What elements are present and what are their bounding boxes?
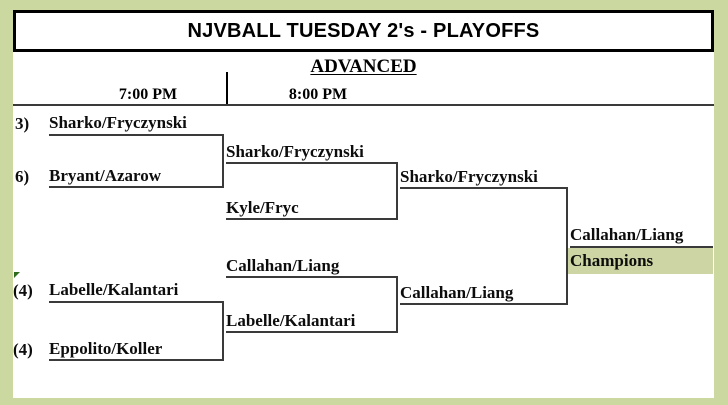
rule-r1-2 [49, 186, 224, 188]
seed-r1-2: 6) [15, 167, 29, 187]
rule-r1-1 [49, 134, 224, 136]
team-r1-4: Eppolito/Koller [49, 340, 162, 358]
champions-label: Champions [570, 251, 653, 271]
time-column-divider [226, 72, 228, 105]
time-column-7pm: 7:00 PM [73, 86, 223, 104]
team-r1-1: Sharko/Fryczynski [49, 114, 187, 132]
rule-r1-3 [49, 301, 224, 303]
rule-r2-1 [226, 162, 398, 164]
team-r2-4: Labelle/Kalantari [226, 312, 355, 330]
division-label: ADVANCED [310, 56, 416, 77]
connector-r3 [566, 187, 568, 305]
connector-r2-a [396, 162, 398, 220]
header-rule [13, 104, 714, 106]
team-r2-3: Callahan/Liang [226, 257, 339, 275]
team-r1-2: Bryant/Azarow [49, 167, 161, 185]
rule-r3-2 [400, 303, 568, 305]
rule-r2-3 [226, 276, 398, 278]
connector-r1-a [222, 134, 224, 188]
team-final-winner: Callahan/Liang [570, 226, 683, 244]
team-r2-1: Sharko/Fryczynski [226, 143, 364, 161]
time-column-8pm: 8:00 PM [243, 86, 393, 104]
bracket-sheet: NJVBALL TUESDAY 2's - PLAYOFFS ADVANCED … [13, 10, 714, 398]
connector-r2-b [396, 276, 398, 333]
team-r3-2: Callahan/Liang [400, 284, 513, 302]
rule-r3-1 [400, 187, 568, 189]
rule-r2-4 [226, 331, 398, 333]
rule-r2-2 [226, 218, 398, 220]
division-heading: ADVANCED [13, 56, 714, 78]
rule-r1-4 [49, 359, 224, 361]
seed-r1-1: 3) [15, 114, 29, 134]
comment-marker-icon [14, 272, 20, 278]
page-title-box: NJVBALL TUESDAY 2's - PLAYOFFS [13, 10, 714, 52]
seed-r1-3: (4) [13, 281, 33, 301]
team-r2-2: Kyle/Fryc [226, 199, 299, 217]
team-r3-1: Sharko/Fryczynski [400, 168, 538, 186]
page-title: NJVBALL TUESDAY 2's - PLAYOFFS [188, 20, 540, 43]
seed-r1-4: (4) [13, 340, 33, 360]
team-r1-3: Labelle/Kalantari [49, 281, 178, 299]
connector-r1-b [222, 301, 224, 361]
